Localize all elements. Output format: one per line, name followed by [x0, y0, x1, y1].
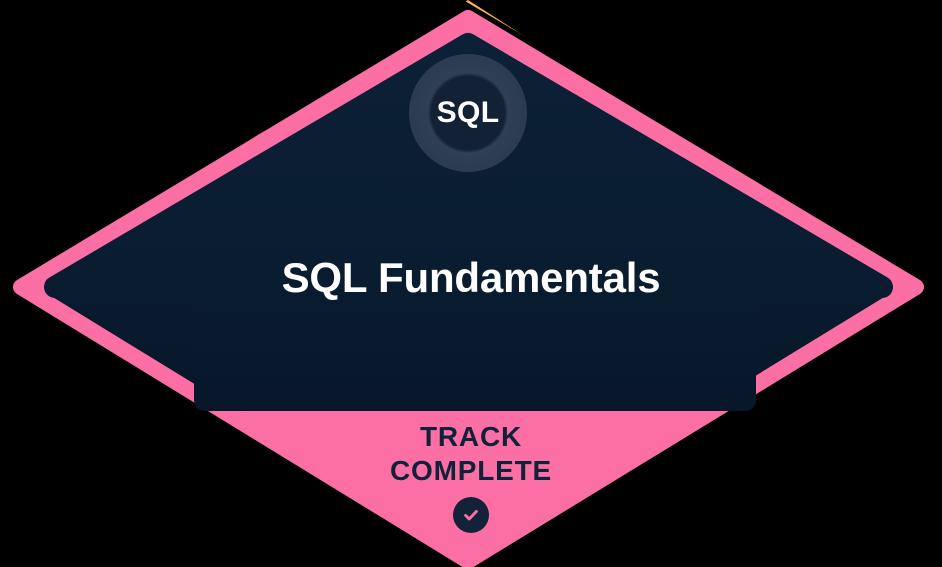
track-status-block: TRACK COMPLETE [0, 420, 942, 533]
sql-emblem-circle: SQL [409, 54, 527, 172]
status-line-2: COMPLETE [0, 454, 942, 488]
status-line-1: TRACK [0, 420, 942, 454]
sql-emblem-label: SQL [437, 98, 500, 128]
check-circle-icon [453, 497, 489, 533]
track-badge: SQL SQL Fundamentals TRACK COMPLETE [0, 0, 942, 567]
track-title: SQL Fundamentals [0, 255, 942, 301]
